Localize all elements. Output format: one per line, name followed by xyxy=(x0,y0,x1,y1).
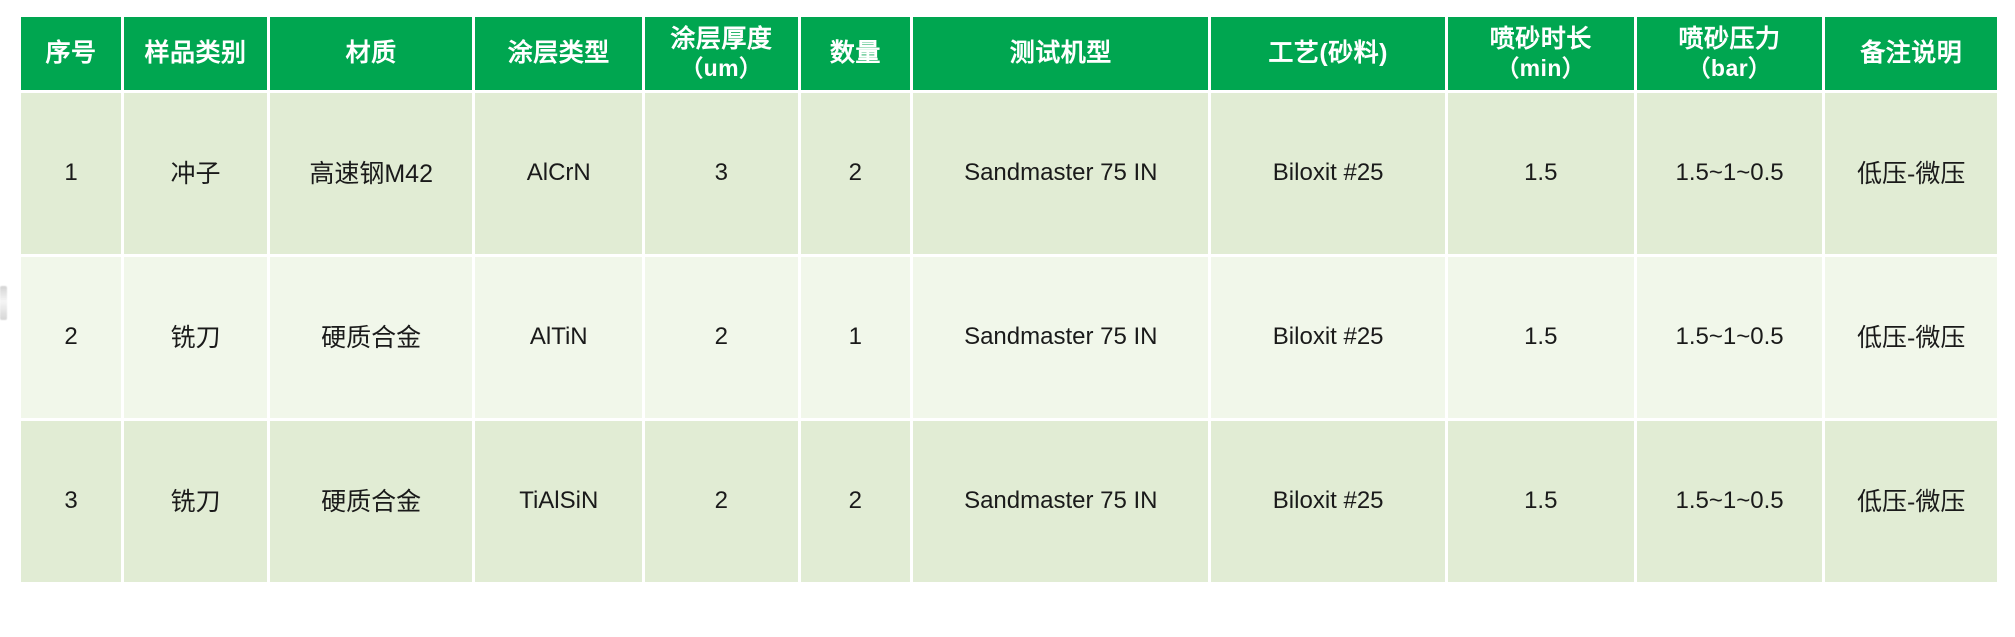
column-header-label: 测试机型 xyxy=(1010,39,1112,67)
column-header-qty[interactable]: 数量 xyxy=(801,17,911,90)
cell-process[interactable]: Biloxit #25 xyxy=(1211,93,1444,254)
cell-qty[interactable]: 2 xyxy=(801,421,911,582)
cell-blast_pres[interactable]: 1.5~1~0.5 xyxy=(1637,93,1823,254)
table-row[interactable]: 1冲子高速钢M42AlCrN32Sandmaster 75 INBiloxit … xyxy=(21,93,1997,254)
column-header-label: 数量 xyxy=(830,39,881,67)
cell-process[interactable]: Biloxit #25 xyxy=(1211,257,1444,418)
cell-coating[interactable]: TiAlSiN xyxy=(475,421,642,582)
cell-seq[interactable]: 3 xyxy=(21,421,121,582)
cell-blast_time[interactable]: 1.5 xyxy=(1448,421,1634,582)
column-header-sample[interactable]: 样品类别 xyxy=(124,17,267,90)
cell-seq[interactable]: 2 xyxy=(21,257,121,418)
table-body: 1冲子高速钢M42AlCrN32Sandmaster 75 INBiloxit … xyxy=(21,93,1997,582)
column-header-label: 涂层厚度 xyxy=(670,25,772,53)
column-header-label: 涂层类型 xyxy=(508,39,610,67)
column-header-label: 喷砂时长 xyxy=(1490,25,1592,53)
cell-remark[interactable]: 低压-微压 xyxy=(1825,257,1997,418)
cell-process[interactable]: Biloxit #25 xyxy=(1211,421,1444,582)
column-header-blast_pres[interactable]: 喷砂压力（bar） xyxy=(1637,17,1823,90)
cell-remark[interactable]: 低压-微压 xyxy=(1825,93,1997,254)
cell-thickness[interactable]: 2 xyxy=(645,257,797,418)
column-header-label: 材质 xyxy=(346,39,397,67)
column-header-material[interactable]: 材质 xyxy=(270,17,472,90)
cell-machine[interactable]: Sandmaster 75 IN xyxy=(913,93,1208,254)
cell-machine[interactable]: Sandmaster 75 IN xyxy=(913,257,1208,418)
cell-material[interactable]: 硬质合金 xyxy=(270,257,472,418)
cell-thickness[interactable]: 2 xyxy=(645,421,797,582)
column-header-remark[interactable]: 备注说明 xyxy=(1825,17,1997,90)
cell-blast_time[interactable]: 1.5 xyxy=(1448,93,1634,254)
column-header-blast_time[interactable]: 喷砂时长（min） xyxy=(1448,17,1634,90)
column-header-label: 工艺(砂料) xyxy=(1268,39,1388,67)
column-header-label: 喷砂压力 xyxy=(1679,25,1781,53)
table-row[interactable]: 3铣刀硬质合金TiAlSiN22Sandmaster 75 INBiloxit … xyxy=(21,421,1997,582)
cell-thickness[interactable]: 3 xyxy=(645,93,797,254)
column-header-process[interactable]: 工艺(砂料) xyxy=(1211,17,1444,90)
column-header-label: 序号 xyxy=(46,39,97,67)
sample-test-parameters-table: 序号样品类别材质涂层类型涂层厚度（um）数量测试机型工艺(砂料)喷砂时长（min… xyxy=(18,14,2000,585)
cell-qty[interactable]: 2 xyxy=(801,93,911,254)
column-header-thickness[interactable]: 涂层厚度（um） xyxy=(645,17,797,90)
cell-seq[interactable]: 1 xyxy=(21,93,121,254)
cell-sample[interactable]: 铣刀 xyxy=(124,421,267,582)
cell-remark[interactable]: 低压-微压 xyxy=(1825,421,1997,582)
cell-machine[interactable]: Sandmaster 75 IN xyxy=(913,421,1208,582)
cell-blast_time[interactable]: 1.5 xyxy=(1448,257,1634,418)
cell-coating[interactable]: AlTiN xyxy=(475,257,642,418)
header-row: 序号样品类别材质涂层类型涂层厚度（um）数量测试机型工艺(砂料)喷砂时长（min… xyxy=(21,17,1997,90)
column-header-unit: （min） xyxy=(1448,55,1634,82)
column-header-label: 备注说明 xyxy=(1860,39,1962,67)
cell-material[interactable]: 高速钢M42 xyxy=(270,93,472,254)
scan-artifact-smudge xyxy=(0,286,7,320)
column-header-unit: （bar） xyxy=(1637,55,1823,82)
cell-coating[interactable]: AlCrN xyxy=(475,93,642,254)
cell-qty[interactable]: 1 xyxy=(801,257,911,418)
cell-sample[interactable]: 铣刀 xyxy=(124,257,267,418)
column-header-label: 样品类别 xyxy=(144,39,246,67)
column-header-machine[interactable]: 测试机型 xyxy=(913,17,1208,90)
cell-sample[interactable]: 冲子 xyxy=(124,93,267,254)
cell-blast_pres[interactable]: 1.5~1~0.5 xyxy=(1637,257,1823,418)
table-header: 序号样品类别材质涂层类型涂层厚度（um）数量测试机型工艺(砂料)喷砂时长（min… xyxy=(21,17,1997,90)
cell-blast_pres[interactable]: 1.5~1~0.5 xyxy=(1637,421,1823,582)
cell-material[interactable]: 硬质合金 xyxy=(270,421,472,582)
column-header-coating[interactable]: 涂层类型 xyxy=(475,17,642,90)
column-header-unit: （um） xyxy=(645,55,797,82)
column-header-seq[interactable]: 序号 xyxy=(21,17,121,90)
spreadsheet-canvas: 序号样品类别材质涂层类型涂层厚度（um）数量测试机型工艺(砂料)喷砂时长（min… xyxy=(0,0,2015,637)
table-row[interactable]: 2铣刀硬质合金AlTiN21Sandmaster 75 INBiloxit #2… xyxy=(21,257,1997,418)
